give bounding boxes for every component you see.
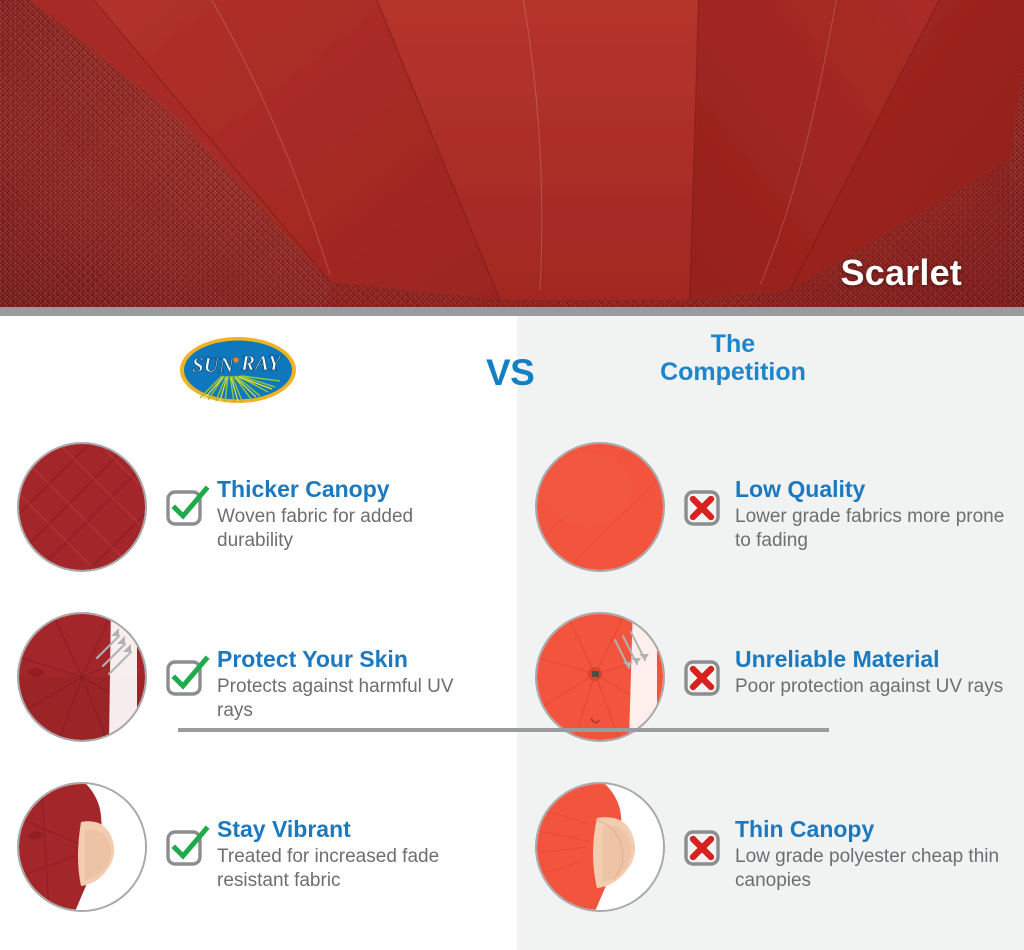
umbrella-deflecting-uv-rays [17,612,147,742]
cross-badge-icon [683,827,723,867]
product-color-label: Scarlet [841,252,962,294]
feature-rows: Thicker Canopy Woven fabric for added du… [0,420,1024,932]
sunray-feature-cell: Protect Your Skin Protects against harmf… [0,602,512,772]
vs-label: VS [486,352,534,394]
feature-row: Thicker Canopy Woven fabric for added du… [0,432,1024,602]
check-badge-icon [165,657,205,697]
header-divider-rule [178,728,829,732]
competition-title-line1: The [600,330,866,358]
competition-feature-cell: Thin Canopy Low grade polyester cheap th… [512,772,1024,932]
feature-title: Thicker Canopy [217,476,512,503]
feature-text: Thicker Canopy Woven fabric for added du… [205,442,512,554]
feature-description: Low grade polyester cheap thin canopies [735,845,1007,894]
sunray-feature-cell: Thicker Canopy Woven fabric for added du… [0,432,512,602]
check-badge-icon [165,827,205,867]
svg-text:RAY: RAY [240,351,283,375]
competition-feature-cell: Unreliable Material Poor protection agai… [512,602,1024,772]
plain-orange-red-fabric-swatch [535,442,665,572]
feature-title: Protect Your Skin [217,646,512,673]
svg-text:SUN: SUN [192,353,235,377]
comparison-infographic: Scarlet [0,0,1024,950]
feature-row: Stay Vibrant Treated for increased fade … [0,772,1024,932]
competition-title: The Competition [600,330,866,386]
feature-text: Protect Your Skin Protects against harmf… [205,612,512,724]
comparison-section: SUN RAY VS The Competition [0,316,1024,950]
feature-text: Unreliable Material Poor protection agai… [723,612,1024,699]
feature-text: Thin Canopy Low grade polyester cheap th… [723,782,1024,894]
cross-badge-icon [683,487,723,527]
check-badge-icon [165,487,205,527]
feature-title: Thin Canopy [735,816,1024,843]
feature-text: Stay Vibrant Treated for increased fade … [205,782,512,894]
feature-description: Lower grade fabrics more prone to fading [735,505,1007,554]
feature-row: Protect Your Skin Protects against harmf… [0,602,1024,772]
sunray-logo: SUN RAY [178,332,298,408]
woven-red-fabric-swatch [17,442,147,572]
feature-title: Low Quality [735,476,1024,503]
hand-behind-dark-red-canopy [17,782,147,912]
feature-description: Treated for increased fade resistant fab… [217,845,487,894]
comparison-header: SUN RAY VS The Competition [0,316,1024,420]
feature-description: Protects against harmful UV rays [217,675,487,724]
feature-description: Woven fabric for added durability [217,505,487,554]
feature-text: Low Quality Lower grade fabrics more pro… [723,442,1024,554]
competition-feature-cell: Low Quality Lower grade fabrics more pro… [512,432,1024,602]
feature-title: Unreliable Material [735,646,1024,673]
cross-badge-icon [683,657,723,697]
competition-title-line2: Competition [600,358,866,386]
hand-visible-through-thin-canopy [535,782,665,912]
umbrella-penetrated-by-uv-rays [535,612,665,742]
feature-description: Poor protection against UV rays [735,675,1007,699]
sunray-feature-cell: Stay Vibrant Treated for increased fade … [0,772,512,932]
feature-title: Stay Vibrant [217,816,512,843]
hero-product-image: Scarlet [0,0,1024,316]
hero-bottom-divider [0,307,1024,316]
